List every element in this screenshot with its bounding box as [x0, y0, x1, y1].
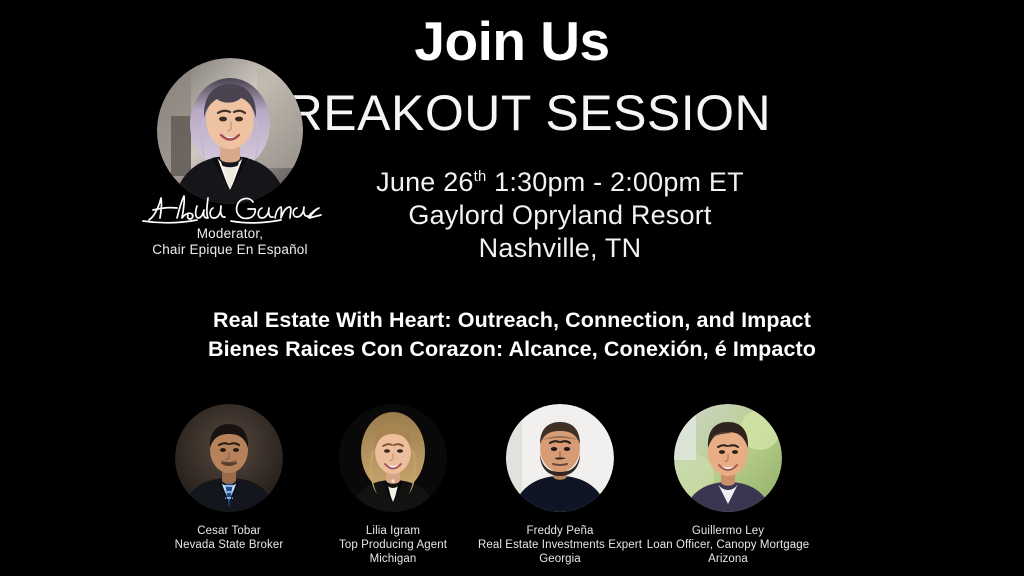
moderator-block: Moderator, Chair Epique En Español [128, 58, 332, 258]
speaker-title-4: Loan Officer, Canopy Mortgage [633, 538, 823, 552]
moderator-role: Moderator, [128, 226, 332, 242]
speaker-card-4: Guillermo Ley Loan Officer, Canopy Mortg… [633, 404, 823, 566]
date-ordinal-suffix: th [474, 169, 487, 185]
session-title-block: Real Estate With Heart: Outreach, Connec… [0, 306, 1024, 364]
speaker-avatar-2 [339, 404, 447, 512]
speaker-caption-2: Lilia Igram Top Producing Agent Michigan [298, 524, 488, 566]
speaker-title-3: Real Estate Investments Expert [465, 538, 655, 552]
event-date: June 26 [376, 167, 473, 197]
speaker-name-1: Cesar Tobar [134, 524, 324, 538]
event-time: 1:30pm - 2:00pm ET [494, 167, 744, 197]
moderator-photo-wrap [157, 58, 303, 204]
speaker-title-2: Top Producing Agent [298, 538, 488, 552]
speaker-card-2: Lilia Igram Top Producing Agent Michigan [298, 404, 488, 566]
speaker-caption-1: Cesar Tobar Nevada State Broker [134, 524, 324, 552]
speakers-row: Cesar Tobar Nevada State Broker [0, 404, 1024, 576]
event-venue: Gaylord Opryland Resort [300, 199, 820, 232]
session-title-en: Real Estate With Heart: Outreach, Connec… [0, 306, 1024, 335]
moderator-affiliation: Chair Epique En Español [128, 242, 332, 258]
event-datetime-line: June 26th 1:30pm - 2:00pm ET [300, 166, 820, 199]
moderator-caption: Moderator, Chair Epique En Español [128, 226, 332, 258]
speaker-name-4: Guillermo Ley [633, 524, 823, 538]
speaker-region-4: Arizona [633, 552, 823, 566]
slide-canvas: Join Us BREAKOUT SESSION June 26th 1:30p… [0, 0, 1024, 576]
speaker-region-3: Georgia [465, 552, 655, 566]
speaker-avatar-4 [674, 404, 782, 512]
speaker-card-1: Cesar Tobar Nevada State Broker [134, 404, 324, 552]
speaker-avatar-1 [175, 404, 283, 512]
speaker-name-3: Freddy Peña [465, 524, 655, 538]
moderator-avatar [157, 58, 303, 204]
session-title-es: Bienes Raices Con Corazon: Alcance, Cone… [0, 335, 1024, 364]
speaker-avatar-3 [506, 404, 614, 512]
event-details: June 26th 1:30pm - 2:00pm ET Gaylord Opr… [300, 166, 820, 265]
speaker-caption-4: Guillermo Ley Loan Officer, Canopy Mortg… [633, 524, 823, 566]
event-city: Nashville, TN [300, 232, 820, 265]
speaker-title-1: Nevada State Broker [134, 538, 324, 552]
speaker-caption-3: Freddy Peña Real Estate Investments Expe… [465, 524, 655, 566]
speaker-region-2: Michigan [298, 552, 488, 566]
speaker-name-2: Lilia Igram [298, 524, 488, 538]
speaker-card-3: Freddy Peña Real Estate Investments Expe… [465, 404, 655, 566]
